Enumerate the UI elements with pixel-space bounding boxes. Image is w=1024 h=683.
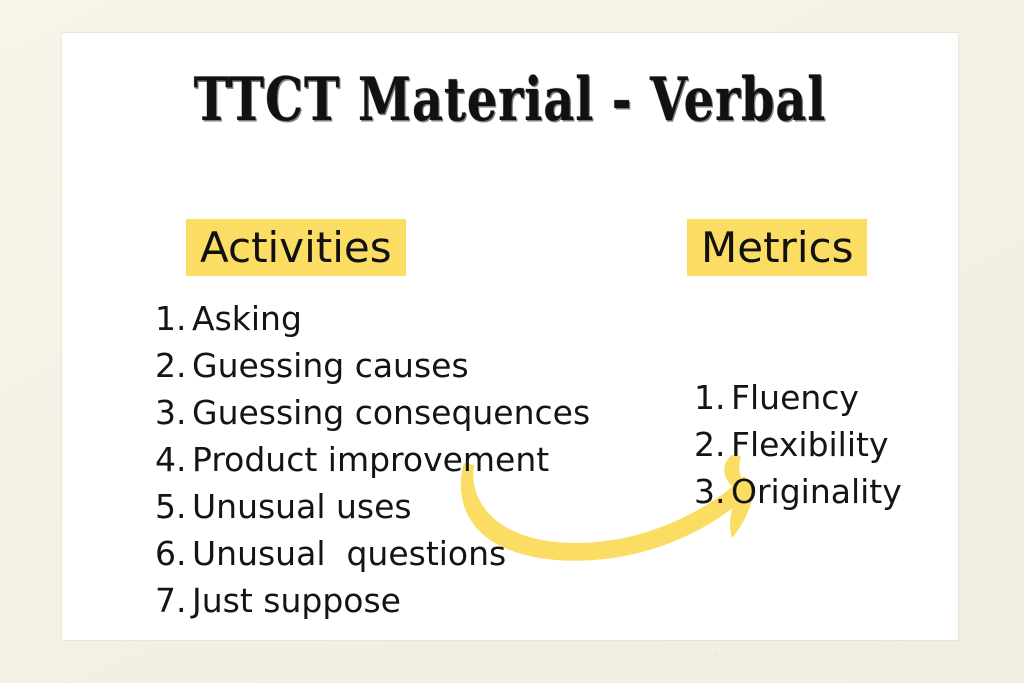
slide-canvas: TTCT Material - Verbal Activities 1. Ask… <box>0 0 1024 683</box>
list-item: 1. Fluency <box>694 374 902 421</box>
list-item-label: Guessing consequences <box>192 389 590 436</box>
column-header-activities: Activities <box>186 219 406 276</box>
list-item-number: 3. <box>694 468 731 515</box>
activities-list: 1. Asking 2. Guessing causes 3. Guessing… <box>155 295 590 624</box>
list-item-number: 7. <box>155 577 192 624</box>
list-item-label: Just suppose <box>192 577 401 624</box>
list-item: 3. Originality <box>694 468 902 515</box>
list-item-number: 4. <box>155 436 192 483</box>
list-item-number: 2. <box>694 421 731 468</box>
list-item-label: Fluency <box>731 374 859 421</box>
column-header-metrics: Metrics <box>687 219 867 276</box>
list-item-label: Guessing causes <box>192 342 469 389</box>
page-title: TTCT Material - Verbal <box>152 69 869 132</box>
list-item: 3. Guessing consequences <box>155 389 590 436</box>
list-item-number: 1. <box>155 295 192 342</box>
list-item-number: 2. <box>155 342 192 389</box>
metrics-list: 1. Fluency 2. Flexibility 3. Originality <box>694 374 902 515</box>
list-item-label: Flexibility <box>731 421 889 468</box>
list-item-number: 1. <box>694 374 731 421</box>
list-item-number: 6. <box>155 530 192 577</box>
list-item: 2. Guessing causes <box>155 342 590 389</box>
list-item-label: Product improvement <box>192 436 549 483</box>
list-item: 2. Flexibility <box>694 421 902 468</box>
list-item-label: Asking <box>192 295 302 342</box>
list-item-label: Originality <box>731 468 902 515</box>
list-item-label: Unusual questions <box>192 530 506 577</box>
list-item: 1. Asking <box>155 295 590 342</box>
list-item-label: Unusual uses <box>192 483 412 530</box>
list-item-number: 5. <box>155 483 192 530</box>
list-item: 6. Unusual questions <box>155 530 590 577</box>
list-item: 5. Unusual uses <box>155 483 590 530</box>
list-item-number: 3. <box>155 389 192 436</box>
list-item: 7. Just suppose <box>155 577 590 624</box>
slide-card: TTCT Material - Verbal Activities 1. Ask… <box>62 33 958 640</box>
list-item: 4. Product improvement <box>155 436 590 483</box>
